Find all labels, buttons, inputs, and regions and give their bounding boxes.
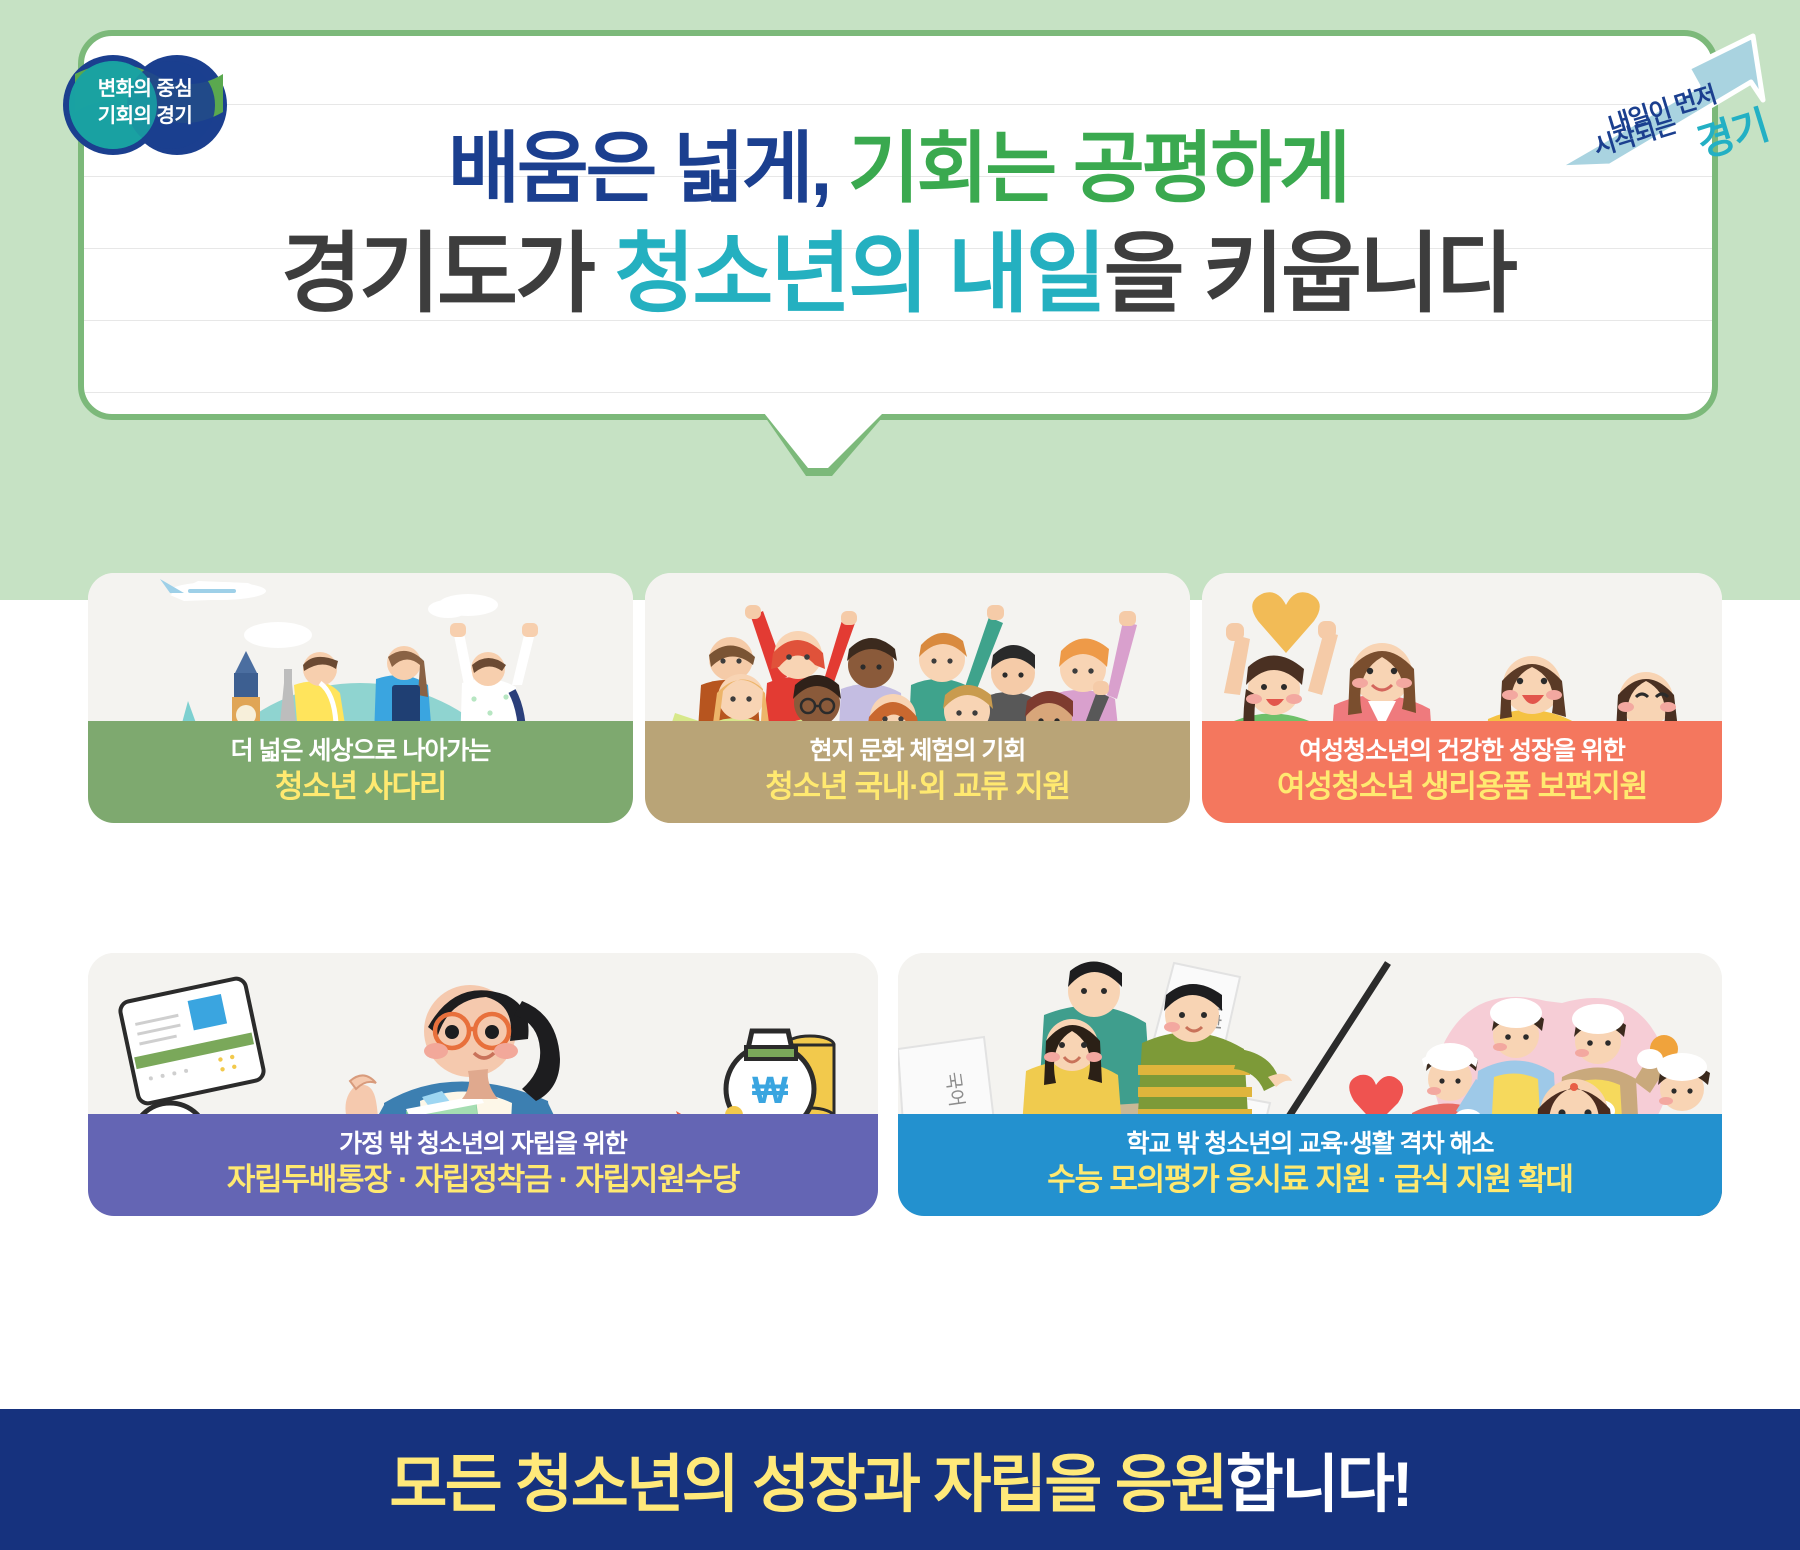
- card-title: 청소년 국내·외 교류 지원: [653, 767, 1182, 807]
- slogan-logo: 내일이 먼저 시작되는 경기: [1548, 28, 1798, 173]
- footer-message: 모든 청소년의 성장과 자립을 응원합니다!: [389, 1434, 1410, 1525]
- card-caption: 현지 문화 체험의 기회 청소년 국내·외 교류 지원: [645, 721, 1190, 823]
- ci-logo-text: 변화의 중심 기회의 경기: [77, 76, 213, 130]
- card-subtitle: 현지 문화 체험의 기회: [653, 735, 1182, 767]
- card-title: 여성청소년 생리용품 보편지원: [1210, 767, 1714, 807]
- card-subtitle: 학교 밖 청소년의 교육·생활 격차 해소: [906, 1128, 1714, 1160]
- poster-root: 변화의 중심 기회의 경기 내일이 먼저 시작되는 경기 배움은 넓게, 기회는…: [0, 0, 1800, 1550]
- headline-line1-part-a: 배움은 넓게,: [448, 124, 829, 212]
- card-caption: 학교 밖 청소년의 교육·생활 격차 해소 수능 모의평가 응시료 지원 · 급…: [898, 1114, 1722, 1216]
- card-caption: 여성청소년의 건강한 성장을 위한 여성청소년 생리용품 보편지원: [1202, 721, 1722, 823]
- card-subtitle: 가정 밖 청소년의 자립을 위한: [96, 1128, 870, 1160]
- headline: 배움은 넓게, 기회는 공평하게 경기도가 청소년의 내일을 키웁니다: [78, 118, 1718, 330]
- program-card-youth-ladder[interactable]: 더 넓은 세상으로 나아가는 청소년 사다리: [88, 573, 633, 823]
- headline-line2-part-c: 을 키웁니다: [1104, 224, 1515, 323]
- card-title: 청소년 사다리: [96, 767, 625, 807]
- headline-line1-part-b: 기회는 공평하게: [848, 124, 1348, 212]
- headline-line2-part-b: 청소년의 내일: [614, 224, 1103, 323]
- footer-message-part-b: 합니다!: [1226, 1450, 1411, 1520]
- program-card-out-of-school-support[interactable]: 국어 사회 영어 수학: [898, 953, 1722, 1216]
- program-card-sanitary-products[interactable]: 여성청소년의 건강한 성장을 위한 여성청소년 생리용품 보편지원: [1202, 573, 1722, 823]
- card-subtitle: 여성청소년의 건강한 성장을 위한: [1210, 735, 1714, 767]
- footer-banner: 모든 청소년의 성장과 자립을 응원합니다!: [0, 1409, 1800, 1550]
- gyeonggi-ci-logo: 변화의 중심 기회의 경기: [55, 52, 235, 158]
- card-caption: 더 넓은 세상으로 나아가는 청소년 사다리: [88, 721, 633, 823]
- program-card-exchange[interactable]: 현지 문화 체험의 기회 청소년 국내·외 교류 지원: [645, 573, 1190, 823]
- headline-line2-part-a: 경기도가: [281, 224, 593, 323]
- svg-text:₩: ₩: [752, 1070, 788, 1112]
- headline-line-1: 배움은 넓게, 기회는 공평하게: [78, 118, 1718, 218]
- card-title: 수능 모의평가 응시료 지원 · 급식 지원 확대: [906, 1160, 1714, 1200]
- card-subtitle: 더 넓은 세상으로 나아가는: [96, 735, 625, 767]
- card-caption: 가정 밖 청소년의 자립을 위한 자립두배통장 · 자립정착금 · 자립지원수당: [88, 1114, 878, 1216]
- ci-logo-line1: 변화의 중심: [98, 78, 193, 100]
- ci-logo-line2: 기회의 경기: [98, 105, 193, 127]
- headline-line-2: 경기도가 청소년의 내일을 키웁니다: [78, 218, 1718, 330]
- card-title: 자립두배통장 · 자립정착금 · 자립지원수당: [96, 1160, 870, 1200]
- footer-message-part-a: 모든 청소년의 성장과 자립을 응원: [389, 1450, 1225, 1520]
- program-card-independence-support[interactable]: ₩ ₩: [88, 953, 878, 1216]
